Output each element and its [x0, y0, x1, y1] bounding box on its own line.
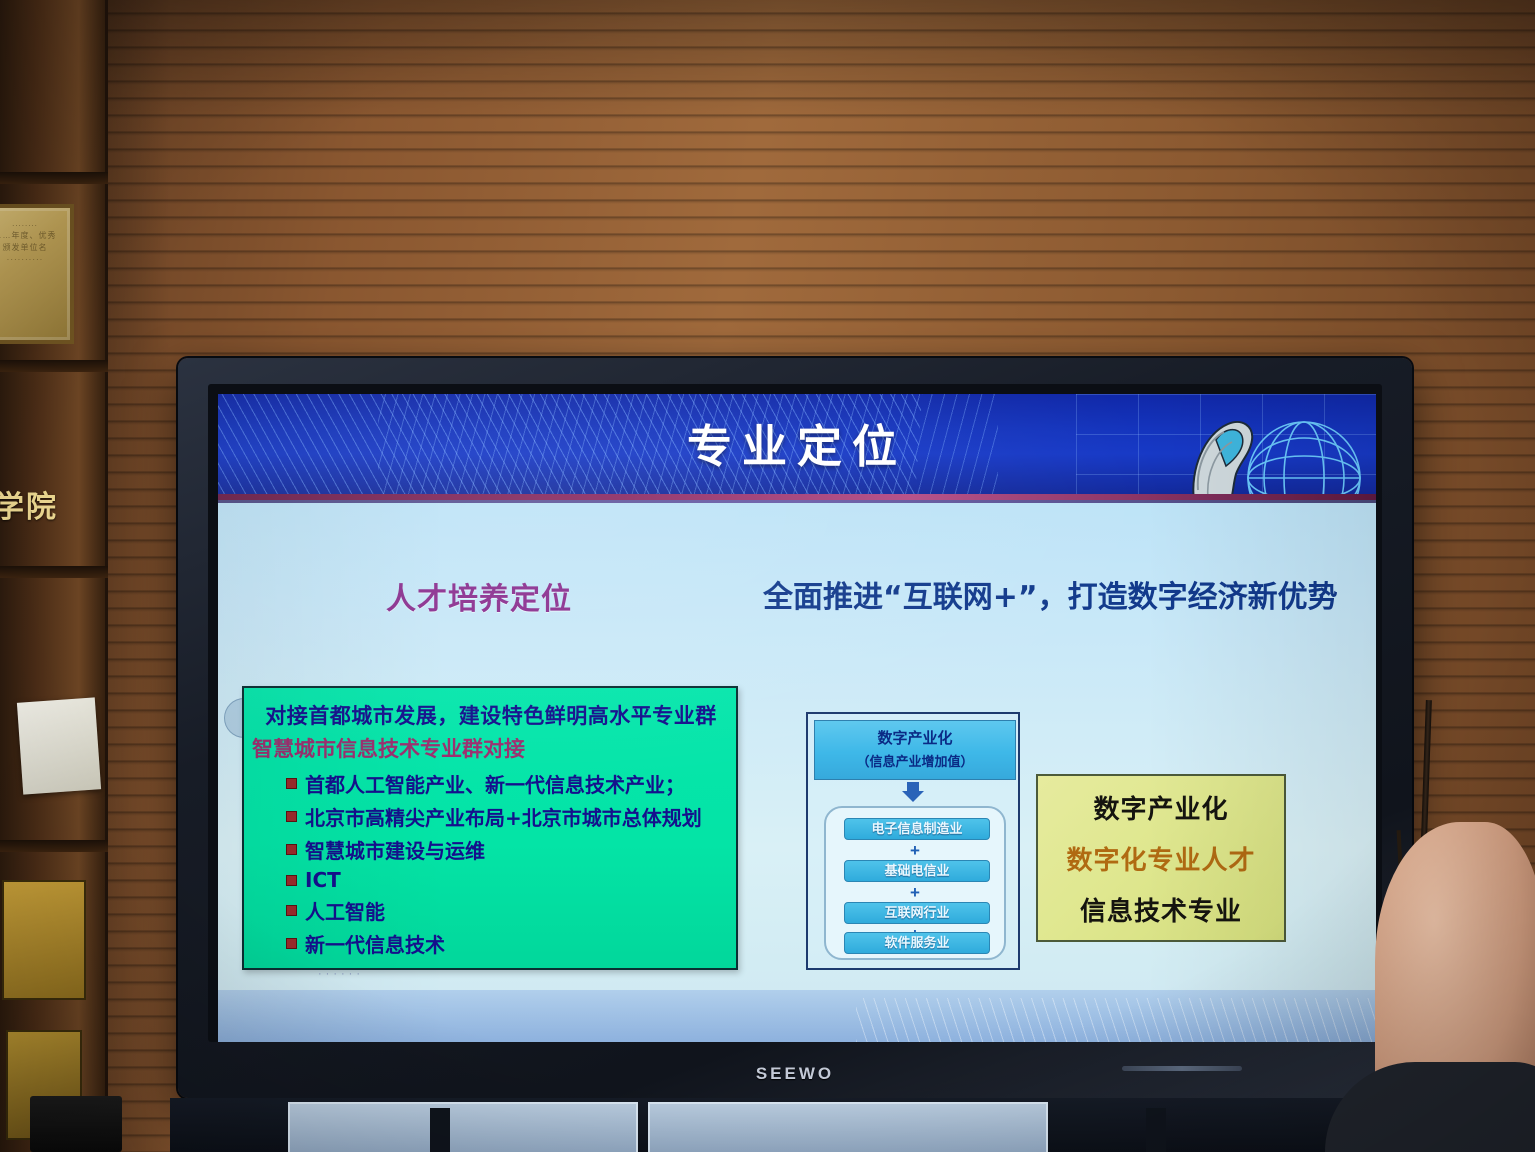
- stand-panel-left: [288, 1102, 638, 1152]
- presentation-slide[interactable]: 专业定位 人才培养定位 全面推进“互联网+”，打造数字经济新优势 对接首都城市发…: [218, 394, 1376, 1042]
- meeting-room-photo: ........ ……年度、优秀 颁发单位名 ·········· 学院: [0, 0, 1535, 1152]
- award-plaque: ........ ……年度、优秀 颁发单位名 ··········: [0, 204, 74, 344]
- plaque-line-1: ........: [0, 218, 70, 230]
- green-panel-title: 对接首都城市发展，建设特色鲜明高水平专业群: [258, 700, 724, 730]
- yellow-panel-line-3: 信息技术专业: [1080, 891, 1242, 928]
- list-item: 北京市高精尖产业布局+北京市城市总体规划: [286, 802, 724, 831]
- shelf-divider: [0, 566, 108, 578]
- diagram-item-box: 互联网行业: [844, 902, 990, 924]
- green-content-panel[interactable]: 对接首都城市发展，建设特色鲜明高水平专业群 智慧城市信息技术专业群对接 首都人工…: [242, 686, 738, 970]
- green-panel-trailing-dots: ······: [318, 968, 724, 980]
- list-item-label: ICT: [305, 868, 341, 892]
- stand-panel-right: [648, 1102, 1048, 1152]
- diagram-items-container: 电子信息制造业 + 基础电信业 + 互联网行业 + 软件服务业: [824, 806, 1006, 960]
- speaker-box: [30, 1096, 122, 1152]
- diagram-header-box: 数字产业化 （信息产业增加值）: [814, 720, 1016, 780]
- list-item-label: 新一代信息技术: [305, 929, 445, 958]
- footer-ray-pattern: [856, 998, 1376, 1042]
- plaque-line-2: ……年度、优秀: [0, 230, 70, 242]
- stand-leg: [430, 1108, 450, 1152]
- plaque-line-4: ··········: [0, 254, 70, 266]
- list-item: 智慧城市建设与运维: [286, 835, 724, 864]
- heading-internet-plus: 全面推进“互联网+”，打造数字经济新优势: [763, 572, 1338, 616]
- plus-connector-icon: +: [910, 842, 920, 859]
- yellow-panel-line-2: 数字化专业人才: [1066, 840, 1255, 877]
- square-bullet-icon: [286, 811, 297, 822]
- wall-shadow-top: [0, 0, 1535, 120]
- square-bullet-icon: [286, 844, 297, 855]
- diagram-item-box: 基础电信业: [844, 860, 990, 882]
- square-bullet-icon: [286, 778, 297, 789]
- slide-footer-band: [218, 990, 1376, 1042]
- plaque-line-3: 颁发单位名: [0, 242, 70, 254]
- list-item: 首都人工智能产业、新一代信息技术产业；: [286, 769, 724, 798]
- list-item-label: 北京市高精尖产业布局+北京市城市总体规划: [305, 802, 702, 831]
- list-item: 新一代信息技术: [286, 929, 724, 958]
- diagram-item-box: 电子信息制造业: [844, 818, 990, 840]
- slide-title: 专业定位: [218, 410, 1376, 475]
- list-item-label: 首都人工智能产业、新一代信息技术产业；: [305, 769, 685, 798]
- diagram-header-subtitle: （信息产业增加值）: [815, 751, 1015, 770]
- list-item: ICT: [286, 868, 724, 892]
- plus-connector-icon: +: [910, 884, 920, 901]
- bookshelf-cabinet: ........ ……年度、优秀 颁发单位名 ·········· 学院: [0, 0, 108, 1152]
- shelf-label-academy: 学院: [0, 482, 58, 526]
- square-bullet-icon: [286, 938, 297, 949]
- list-item-label: 人工智能: [305, 896, 385, 925]
- display-brand-logo: SEEWO: [178, 1064, 1412, 1084]
- shelf-divider: [0, 840, 108, 852]
- list-item-label: 智慧城市建设与运维: [305, 835, 485, 864]
- square-bullet-icon: [286, 905, 297, 916]
- yellow-panel-line-1: 数字产业化: [1093, 789, 1228, 826]
- storage-box: [2, 880, 86, 1000]
- paper-stack: [17, 697, 101, 794]
- green-panel-subtitle: 智慧城市信息技术专业群对接: [252, 733, 724, 763]
- digital-industrialization-diagram: 数字产业化 （信息产业增加值） 电子信息制造业 + 基础电信业 + 互联网行业 …: [806, 712, 1020, 970]
- diagram-header-title: 数字产业化: [815, 727, 1015, 748]
- list-item: 人工智能: [286, 896, 724, 925]
- slide-header-band: 专业定位: [218, 394, 1376, 494]
- shelf-divider: [0, 172, 108, 184]
- green-panel-bullet-list: 首都人工智能产业、新一代信息技术产业； 北京市高精尖产业布局+北京市城市总体规划…: [286, 769, 724, 958]
- header-underline-secondary: [218, 500, 1376, 503]
- diagram-item-box: 软件服务业: [844, 932, 990, 954]
- yellow-summary-panel[interactable]: 数字产业化 数字化专业人才 信息技术专业: [1036, 774, 1286, 942]
- interactive-display: 专业定位 人才培养定位 全面推进“互联网+”，打造数字经济新优势 对接首都城市发…: [178, 358, 1412, 1098]
- stand-leg: [1146, 1108, 1166, 1152]
- shelf-divider: [0, 360, 108, 372]
- square-bullet-icon: [286, 875, 297, 886]
- heading-talent-positioning: 人才培养定位: [386, 574, 572, 618]
